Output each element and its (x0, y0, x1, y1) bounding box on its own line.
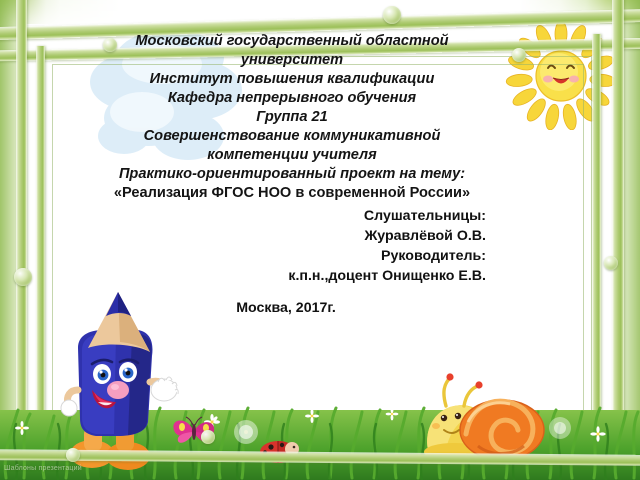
title-line-8: Практико-ориентированный проект на тему: (86, 165, 498, 184)
credits-supervisor-name: к.п.н.,доцент Онищенко Е.В. (86, 266, 486, 286)
credits-student-name: Журавлёвой О.В. (86, 226, 486, 246)
credits-label-supervisor: Руководитель: (86, 246, 486, 266)
title-line-6: Совершенствование коммуникативной (86, 127, 498, 146)
dandelion-icon (549, 417, 571, 439)
bamboo-node (201, 430, 215, 444)
city-year-line: Москва, 2017г. (86, 300, 486, 316)
bamboo-node (512, 48, 526, 62)
title-line-3: Институт повышения квалификации (86, 70, 498, 89)
dandelion-icon (234, 420, 258, 444)
credits-label-students: Слушательницы: (86, 206, 486, 226)
pencil-hand (150, 377, 178, 401)
bamboo-node (383, 6, 401, 24)
credits-block: Слушательницы: Журавлёвой О.В. Руководит… (86, 206, 486, 287)
title-line-7: компетенции учителя (86, 146, 498, 165)
project-theme-line: «Реализация ФГОС НОО в современной Росси… (64, 184, 520, 203)
title-line-5: Группа 21 (86, 108, 498, 127)
snail-shell (460, 400, 544, 460)
watermark-text: Шаблоны презентаций (4, 465, 82, 472)
bamboo-node (66, 448, 80, 462)
title-line-1: Московский государственный областной (86, 32, 498, 51)
bamboo-node (604, 256, 618, 270)
title-block: Московский государственный областной уни… (86, 32, 498, 203)
title-line-2: университет (86, 51, 498, 70)
title-line-4: Кафедра непрерывного обучения (86, 89, 498, 108)
slide-canvas: Московский государственный областной уни… (0, 0, 640, 480)
bamboo-node (14, 268, 32, 286)
